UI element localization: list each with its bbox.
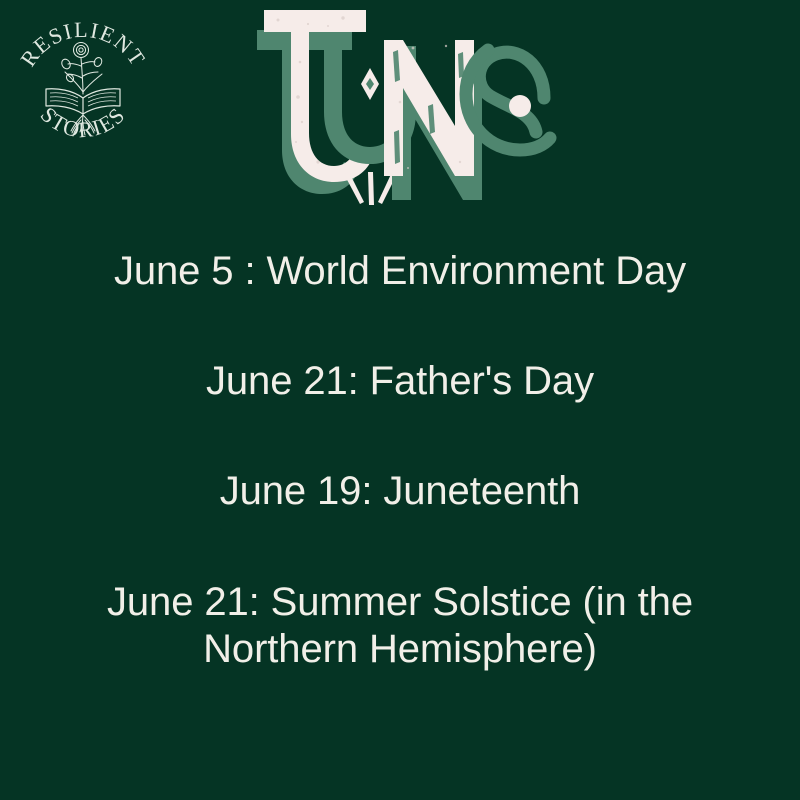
observance-item-1: June 5 : World Environment Day	[28, 248, 772, 295]
logo-flowers	[60, 43, 103, 95]
word-art-letter-j	[257, 10, 373, 194]
observance-item-4: June 21: Summer Solstice (in the Norther…	[28, 579, 772, 673]
observance-item-3: June 19: Juneteenth	[28, 468, 772, 515]
word-art-letter-e-dot	[509, 95, 531, 117]
observance-list: June 5 : World Environment Day June 21: …	[0, 248, 800, 673]
june-observances-graphic: RESILIENT STORIES	[0, 0, 800, 800]
resilient-stories-logo: RESILIENT STORIES	[8, 6, 158, 156]
logo-arc-text-top: RESILIENT	[15, 17, 151, 71]
observance-item-2: June 21: Father's Day	[28, 358, 772, 405]
june-word-art	[248, 2, 558, 212]
